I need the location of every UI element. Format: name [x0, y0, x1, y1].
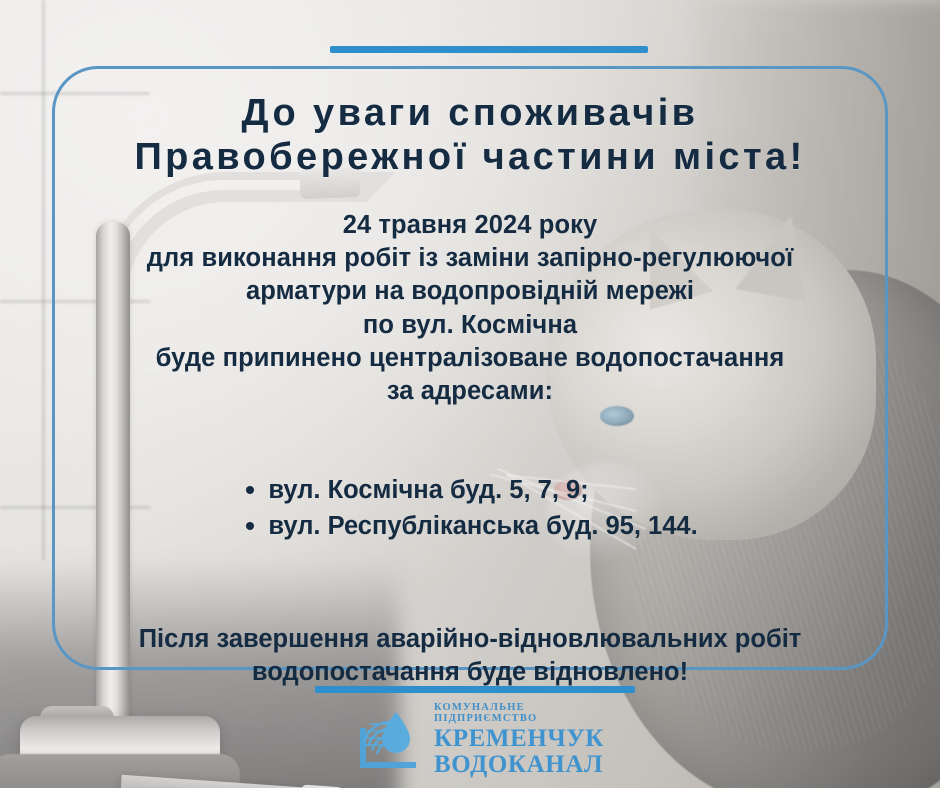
logo-line-1: КРЕМЕНЧУК [434, 726, 622, 752]
list-item: вул. Космічна буд. 5, 7, 9; [242, 472, 697, 508]
logo-wordmark: КОМУНАЛЬНЕ ПІДПРИЄМСТВО КРЕМЕНЧУК ВОДОКА… [434, 703, 622, 777]
logo-subtitle: КОМУНАЛЬНЕ ПІДПРИЄМСТВО [434, 703, 622, 724]
company-logo: КОМУНАЛЬНЕ ПІДПРИЄМСТВО КРЕМЕНЧУК ВОДОКА… [352, 700, 622, 780]
announcement-body: 24 травня 2024 року для виконання робіт … [147, 209, 794, 408]
address-list: вул. Космічна буд. 5, 7, 9; вул. Республ… [242, 472, 697, 544]
water-drop-icon [352, 704, 424, 776]
page-title: До уваги споживачів Правобережної частин… [134, 91, 805, 179]
list-item: вул. Республіканська буд. 95, 144. [242, 508, 697, 544]
announcement-panel: До уваги споживачів Правобережної частин… [52, 66, 888, 670]
top-divider-rule [330, 46, 648, 53]
logo-line-2: ВОДОКАНАЛ [434, 752, 622, 778]
announcement-footer-note: Після завершення аварійно-відновлювальни… [139, 623, 802, 688]
poster: До уваги споживачів Правобережної частин… [0, 0, 940, 788]
